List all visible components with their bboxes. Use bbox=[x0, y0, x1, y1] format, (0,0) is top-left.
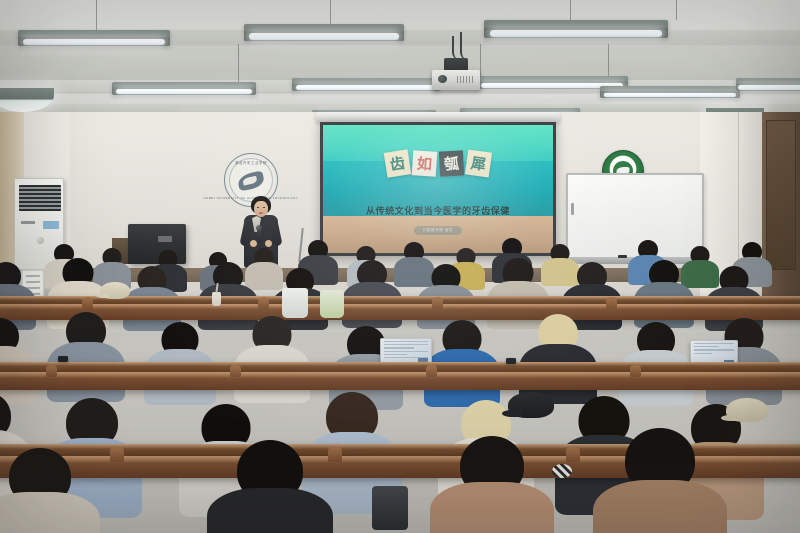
ceiling bbox=[0, 0, 800, 118]
ac-vent-grille-icon bbox=[19, 185, 61, 211]
projection-screen: 齿 如 瓠 犀 从传统文化到当今医学的牙齿保健 口腔医学院 宣讲 bbox=[320, 122, 556, 256]
side-door[interactable] bbox=[766, 120, 796, 270]
ceiling-light-tube bbox=[112, 82, 256, 95]
whiteboard[interactable] bbox=[566, 173, 704, 259]
slide-title-char-1: 齿 bbox=[384, 149, 412, 177]
light-hanger bbox=[570, 0, 571, 20]
slide-canvas: 齿 如 瓠 犀 从传统文化到当今医学的牙齿保健 口腔医学院 宣讲 bbox=[323, 125, 553, 253]
tote-bag bbox=[320, 290, 344, 318]
lecture-hall-photo: 湖北汽车工业学院 HUBEI UNIVERSITY OF AUTOMOTIVE … bbox=[0, 0, 800, 533]
emblem-ring-text-top: 湖北汽车工业学院 bbox=[235, 160, 267, 165]
podium-control-panel[interactable] bbox=[158, 236, 172, 242]
slide-title-char-4: 犀 bbox=[465, 149, 492, 177]
bench-row-1 bbox=[0, 304, 800, 320]
light-hanger bbox=[676, 0, 677, 20]
presenter-hand-left bbox=[250, 240, 257, 247]
ceiling-recess bbox=[0, 44, 800, 80]
hair-scrunchie bbox=[552, 464, 572, 478]
presenter-face bbox=[254, 201, 268, 217]
ac-power-knob-icon[interactable] bbox=[37, 237, 44, 244]
ceiling-light-tube bbox=[600, 86, 740, 98]
light-hanger bbox=[330, 0, 331, 24]
handheld-microphone-icon bbox=[257, 229, 261, 243]
ac-brand-mark bbox=[21, 221, 35, 224]
slide-title-char-2: 如 bbox=[412, 150, 438, 177]
slide-subtitle: 从传统文化到当今医学的牙齿保健 bbox=[366, 204, 510, 217]
slide-presenter-badge: 口腔医学院 宣讲 bbox=[414, 226, 462, 235]
drink-cup bbox=[212, 292, 221, 306]
light-hanger bbox=[238, 44, 239, 82]
smartphone[interactable] bbox=[506, 358, 516, 364]
whiteboard-marker-icon[interactable] bbox=[618, 255, 627, 258]
ceiling-light-tube bbox=[292, 78, 440, 91]
ceiling-light-tube bbox=[18, 30, 170, 46]
slide-title-tiles: 齿 如 瓠 犀 bbox=[386, 151, 491, 176]
emblem-bird-mark-icon bbox=[237, 171, 266, 192]
ac-display-label bbox=[43, 221, 59, 229]
baseball-cap bbox=[100, 282, 130, 299]
presenter-hand-right bbox=[265, 240, 272, 247]
ceiling-light-tube bbox=[244, 24, 404, 41]
backpack bbox=[372, 486, 408, 530]
tote-bag bbox=[282, 288, 308, 318]
light-hanger bbox=[480, 44, 481, 76]
bench-row-2 bbox=[0, 372, 800, 390]
projector-lens-icon bbox=[438, 75, 447, 83]
projector-cable bbox=[460, 32, 476, 60]
baseball-cap bbox=[508, 392, 554, 418]
projector-vents bbox=[457, 76, 475, 83]
ceiling-projector bbox=[432, 70, 480, 90]
ceiling-light-tube bbox=[484, 20, 668, 38]
light-hanger bbox=[96, 0, 97, 30]
smartphone[interactable] bbox=[58, 356, 68, 362]
whiteboard-clip-icon bbox=[571, 203, 574, 215]
slide-title-char-3: 瓠 bbox=[439, 150, 464, 176]
ceiling-light-tube bbox=[736, 78, 800, 91]
baseball-cap bbox=[726, 398, 768, 422]
